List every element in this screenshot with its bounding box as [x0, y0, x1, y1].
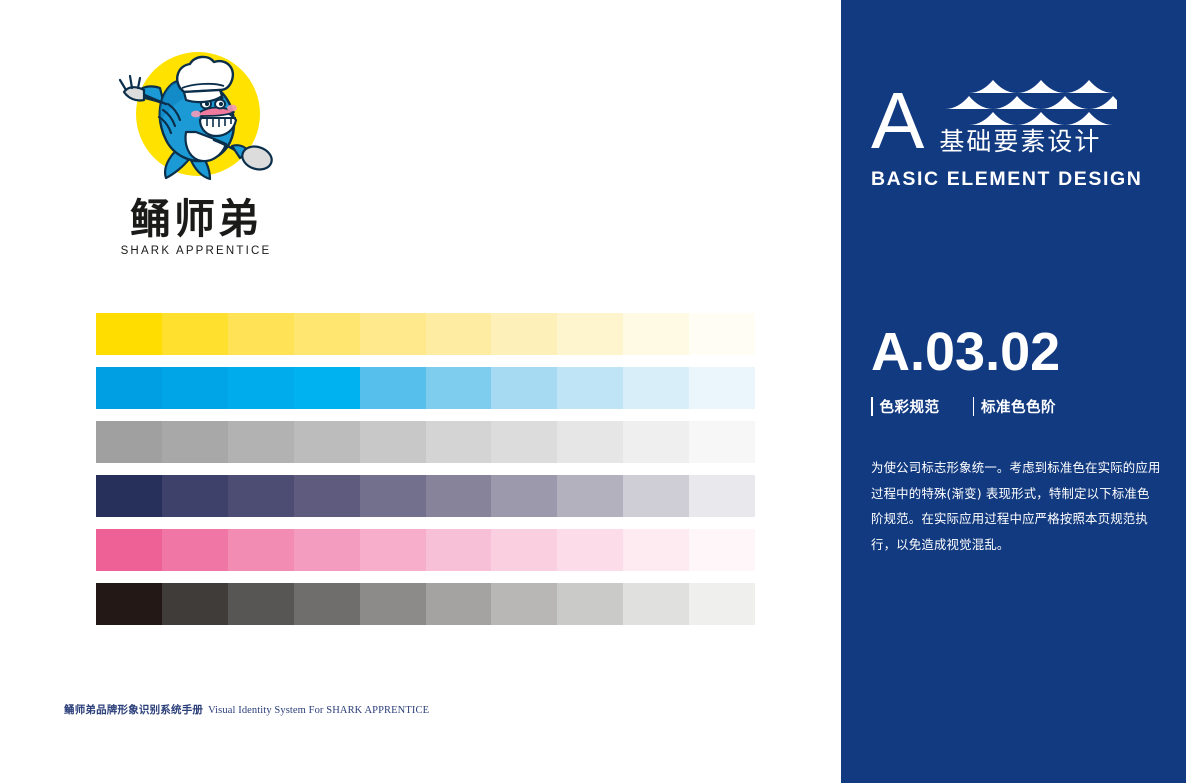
swatch-yellow-ramp-2 — [162, 313, 228, 355]
swatch-cyan-blue-ramp-6 — [426, 367, 492, 409]
swatch-mid-gray-ramp-4 — [294, 421, 360, 463]
swatch-yellow-ramp-8 — [557, 313, 623, 355]
swatch-navy-slate-ramp-1 — [96, 475, 162, 517]
swatch-black-gray-ramp-8 — [557, 583, 623, 625]
section-label-text: 标准色色阶 — [981, 396, 1056, 417]
footer-text-en: Visual Identity System For SHARK APPRENT… — [208, 705, 429, 716]
swatch-black-gray-ramp-3 — [228, 583, 294, 625]
swatch-black-gray-ramp-4 — [294, 583, 360, 625]
swatch-black-gray-ramp-1 — [96, 583, 162, 625]
swatch-mid-gray-ramp-3 — [228, 421, 294, 463]
swatch-yellow-ramp-7 — [491, 313, 557, 355]
swatch-yellow-ramp-5 — [360, 313, 426, 355]
swatch-mid-gray-ramp-10 — [689, 421, 755, 463]
swatch-yellow-ramp-6 — [426, 313, 492, 355]
section-label-group: 色彩规范标准色色阶 — [871, 396, 1056, 417]
swatch-cyan-blue-ramp-4 — [294, 367, 360, 409]
swatch-black-gray-ramp-2 — [162, 583, 228, 625]
swatch-navy-slate-ramp-4 — [294, 475, 360, 517]
swatch-mid-gray-ramp-5 — [360, 421, 426, 463]
swatch-cyan-blue-ramp-8 — [557, 367, 623, 409]
swatch-mid-gray-ramp-9 — [623, 421, 689, 463]
brand-guideline-page: 鲬师弟 SHARK APPRENTICE 鲬师弟品牌形象识别系统手册Visual… — [0, 0, 1200, 783]
swatch-black-gray-ramp-6 — [426, 583, 492, 625]
swatch-black-gray-ramp-9 — [623, 583, 689, 625]
label-accent-bar — [871, 397, 873, 416]
section-label-2: 标准色色阶 — [973, 396, 1057, 417]
swatch-navy-slate-ramp-6 — [426, 475, 492, 517]
swatch-cyan-blue-ramp-7 — [491, 367, 557, 409]
page-footer: 鲬师弟品牌形象识别系统手册Visual Identity System For … — [64, 702, 429, 717]
swatch-pink-magenta-ramp-3 — [228, 529, 294, 571]
logo-name-cn: 鲬师弟 — [96, 198, 296, 241]
section-sidebar: A — [841, 0, 1186, 783]
swatch-pink-magenta-ramp-8 — [557, 529, 623, 571]
swatch-yellow-ramp-9 — [623, 313, 689, 355]
logo-name-en: SHARK APPRENTICE — [96, 245, 296, 257]
swatch-pink-magenta-ramp-2 — [162, 529, 228, 571]
swatch-cyan-blue-ramp-2 — [162, 367, 228, 409]
section-number: A.03.02 — [871, 325, 1060, 379]
swatch-navy-slate-ramp-3 — [228, 475, 294, 517]
color-tint-scale-grid — [96, 313, 755, 625]
section-letter: A — [871, 88, 923, 154]
swatch-black-gray-ramp-7 — [491, 583, 557, 625]
footer-text-cn: 鲬师弟品牌形象识别系统手册 — [64, 704, 203, 716]
swatch-yellow-ramp-10 — [689, 313, 755, 355]
swatch-row-navy-slate-ramp — [96, 475, 755, 517]
swatch-cyan-blue-ramp-3 — [228, 367, 294, 409]
swatch-navy-slate-ramp-10 — [689, 475, 755, 517]
swatch-mid-gray-ramp-7 — [491, 421, 557, 463]
swatch-cyan-blue-ramp-1 — [96, 367, 162, 409]
sidebar-header: A — [871, 78, 1166, 191]
swatch-navy-slate-ramp-8 — [557, 475, 623, 517]
section-description: 为使公司标志形象统一。考虑到标准色在实际的应用过程中的特殊(渐变) 表现形式，特… — [871, 455, 1161, 558]
swatch-navy-slate-ramp-5 — [360, 475, 426, 517]
swatch-yellow-ramp-3 — [228, 313, 294, 355]
swatch-pink-magenta-ramp-4 — [294, 529, 360, 571]
swatch-pink-magenta-ramp-5 — [360, 529, 426, 571]
section-label-text: 色彩规范 — [880, 396, 940, 417]
section-label-1: 色彩规范 — [871, 396, 940, 417]
swatch-pink-magenta-ramp-1 — [96, 529, 162, 571]
swatch-row-mid-gray-ramp — [96, 421, 755, 463]
swatch-navy-slate-ramp-7 — [491, 475, 557, 517]
wave-scales-icon — [939, 79, 1117, 125]
swatch-navy-slate-ramp-9 — [623, 475, 689, 517]
swatch-yellow-ramp-1 — [96, 313, 162, 355]
swatch-mid-gray-ramp-2 — [162, 421, 228, 463]
swatch-black-gray-ramp-5 — [360, 583, 426, 625]
swatch-row-black-gray-ramp — [96, 583, 755, 625]
swatch-cyan-blue-ramp-10 — [689, 367, 755, 409]
logo-wordmark: 鲬师弟 SHARK APPRENTICE — [96, 198, 296, 257]
brand-logo-block: 鲬师弟 SHARK APPRENTICE — [96, 48, 296, 258]
section-title-en: BASIC ELEMENT DESIGN — [871, 168, 1166, 191]
swatch-yellow-ramp-4 — [294, 313, 360, 355]
shark-chef-mascot-icon — [114, 48, 274, 193]
swatch-mid-gray-ramp-8 — [557, 421, 623, 463]
swatch-navy-slate-ramp-2 — [162, 475, 228, 517]
swatch-pink-magenta-ramp-9 — [623, 529, 689, 571]
swatch-cyan-blue-ramp-9 — [623, 367, 689, 409]
swatch-pink-magenta-ramp-6 — [426, 529, 492, 571]
swatch-black-gray-ramp-10 — [689, 583, 755, 625]
swatch-mid-gray-ramp-6 — [426, 421, 492, 463]
section-title-cn: 基础要素设计 — [939, 129, 1117, 154]
label-accent-bar — [973, 397, 975, 416]
swatch-cyan-blue-ramp-5 — [360, 367, 426, 409]
swatch-pink-magenta-ramp-7 — [491, 529, 557, 571]
swatch-mid-gray-ramp-1 — [96, 421, 162, 463]
swatch-pink-magenta-ramp-10 — [689, 529, 755, 571]
swatch-row-cyan-blue-ramp — [96, 367, 755, 409]
swatch-row-pink-magenta-ramp — [96, 529, 755, 571]
swatch-row-yellow-ramp — [96, 313, 755, 355]
